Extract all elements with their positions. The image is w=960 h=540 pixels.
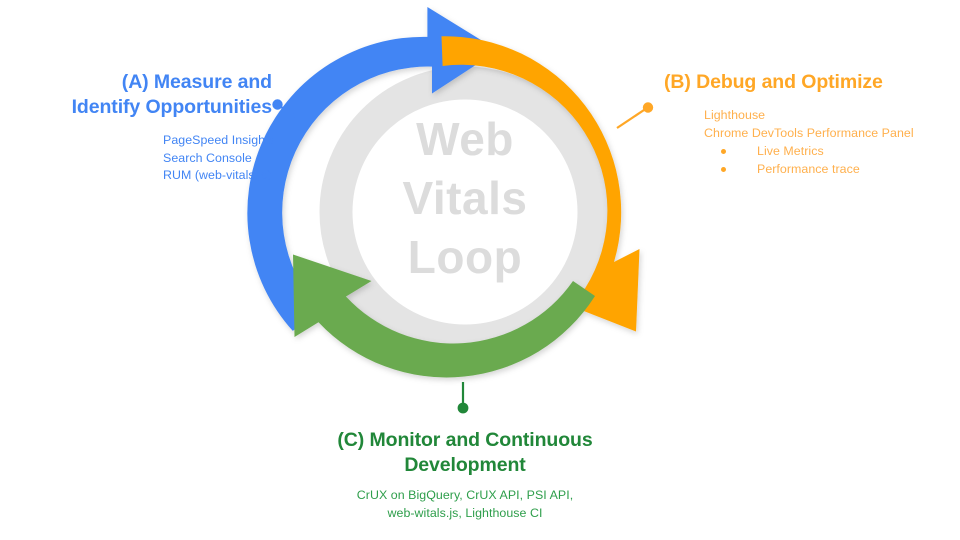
connector-dot-a	[272, 99, 282, 109]
section-b-bullet-1: Live Metrics	[704, 142, 954, 160]
connector-dot-b	[643, 102, 653, 112]
section-b-items: Lighthouse Chrome DevTools Performance P…	[664, 107, 954, 178]
bullet-dot-icon	[721, 149, 726, 154]
bullet-dot-icon	[721, 167, 726, 172]
section-c-heading: (C) Monitor and Continuous Development	[255, 428, 675, 478]
center-label-line-3: Loop	[345, 228, 585, 287]
center-label-line-1: Web	[345, 110, 585, 169]
section-b-heading-line-1: (B) Debug and Optimize	[664, 70, 954, 95]
section-b-bullet-2-label: Performance trace	[757, 162, 860, 176]
section-b-bullet-1-label: Live Metrics	[757, 144, 824, 158]
section-a-measure: (A) Measure and Identify Opportunities P…	[10, 70, 272, 185]
diagram-canvas: Web Vitals Loop (A) Measure and Identify…	[0, 0, 960, 540]
section-b-heading: (B) Debug and Optimize	[664, 70, 954, 95]
section-c-monitor: (C) Monitor and Continuous Development C…	[255, 428, 675, 522]
section-a-heading-line-1: (A) Measure and	[10, 70, 272, 95]
section-b-bullet-list: Live Metrics Performance trace	[704, 142, 954, 178]
section-b-item-1: Lighthouse	[704, 107, 954, 125]
center-label: Web Vitals Loop	[345, 110, 585, 287]
connector-dot-c	[458, 403, 469, 414]
center-label-line-2: Vitals	[345, 169, 585, 228]
section-c-item-2: web-witals.js, Lighthouse CI	[255, 505, 675, 523]
section-a-item-2: Search Console	[163, 150, 272, 168]
connector-line-b	[617, 108, 647, 128]
section-a-item-3: RUM (web-vitals.js)	[163, 167, 272, 185]
section-a-item-1: PageSpeed Insights	[163, 132, 272, 150]
section-a-heading-line-2: Identify Opportunities	[10, 95, 272, 120]
section-b-debug: (B) Debug and Optimize Lighthouse Chrome…	[664, 70, 954, 178]
section-c-heading-line-1: (C) Monitor and Continuous	[255, 428, 675, 453]
section-c-items: CrUX on BigQuery, CrUX API, PSI API, web…	[255, 487, 675, 522]
section-b-bullet-2: Performance trace	[704, 160, 954, 178]
section-a-items: PageSpeed Insights Search Console RUM (w…	[10, 132, 272, 185]
section-a-heading: (A) Measure and Identify Opportunities	[10, 70, 272, 120]
section-b-item-2: Chrome DevTools Performance Panel	[704, 125, 954, 143]
section-c-item-1: CrUX on BigQuery, CrUX API, PSI API,	[255, 487, 675, 505]
section-c-heading-line-2: Development	[255, 453, 675, 478]
